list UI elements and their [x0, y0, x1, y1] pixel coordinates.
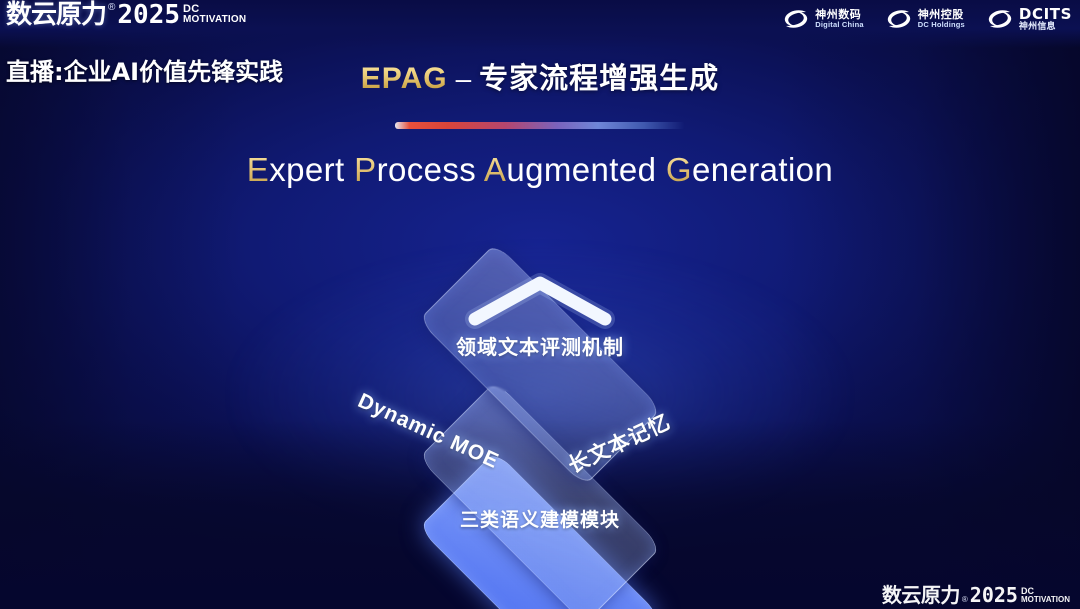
brand-logo-row: 神州数码 Digital China 神州控股 DC Holdings	[783, 6, 1072, 32]
slide-canvas: 数云原力 ® 2025 DC MOTIVATION 直播:企业AI价值先锋实践 …	[0, 0, 1080, 609]
page-title-chinese: 专家流程增强生成	[479, 61, 719, 95]
subtitle-cap-g: G	[666, 151, 692, 188]
brand-dc-holdings: 神州控股 DC Holdings	[886, 9, 965, 29]
registered-mark-icon: ®	[962, 594, 968, 605]
subtitle-cap-p: P	[354, 151, 376, 188]
swirl-logo-icon	[886, 9, 912, 29]
brand-dc-holdings-text: 神州控股 DC Holdings	[918, 9, 965, 29]
watermark-cn: 数云原力	[882, 585, 960, 605]
page-subtitle: Expert Process Augmented Generation	[0, 151, 1080, 189]
subtitle-word-augmented: ugmented	[506, 151, 666, 188]
brand-dcits-text: DCITS 神州信息	[1019, 6, 1072, 32]
brand-digital-china: 神州数码 Digital China	[783, 9, 863, 29]
subtitle-cap-e: E	[247, 151, 269, 188]
page-title: EPAG–专家流程增强生成	[0, 55, 1080, 97]
swirl-logo-icon	[987, 9, 1013, 29]
event-logo-motivation: MOTIVATION	[183, 15, 246, 25]
page-title-acronym: EPAG	[361, 62, 448, 95]
brand-dcits-cn: 神州信息	[1019, 22, 1072, 32]
footer-watermark: 数云原力 ® 2025 DC MOTIVATION	[882, 585, 1070, 605]
brand-dcits-en: DCITS	[1019, 6, 1072, 22]
event-logo-year: 2025	[117, 2, 180, 28]
event-logo-cn: 数云原力	[6, 2, 106, 28]
subtitle-word-generation: eneration	[692, 151, 833, 188]
event-logo-dc-block: DC MOTIVATION	[183, 4, 246, 25]
subtitle-cap-a: A	[484, 151, 506, 188]
brand-digital-china-text: 神州数码 Digital China	[815, 9, 863, 29]
watermark-dc-block: DC MOTIVATION	[1021, 587, 1070, 604]
subtitle-word-process: rocess	[377, 151, 484, 188]
registered-mark-icon: ®	[108, 2, 115, 14]
brand-digital-china-en: Digital China	[815, 21, 863, 29]
title-divider	[395, 122, 685, 129]
swirl-logo-icon	[783, 9, 809, 29]
event-logo: 数云原力 ® 2025 DC MOTIVATION	[6, 2, 246, 28]
layered-architecture-diagram: 领域文本评测机制 Dynamic MOE 长文本记忆 三类语义建模模块	[305, 225, 775, 555]
subtitle-word-expert: xpert	[269, 151, 354, 188]
watermark-motivation: MOTIVATION	[1021, 596, 1070, 604]
page-title-dash: –	[456, 63, 472, 94]
brand-dc-holdings-en: DC Holdings	[918, 21, 965, 29]
brand-dcits: DCITS 神州信息	[987, 6, 1072, 32]
watermark-year: 2025	[970, 585, 1018, 605]
